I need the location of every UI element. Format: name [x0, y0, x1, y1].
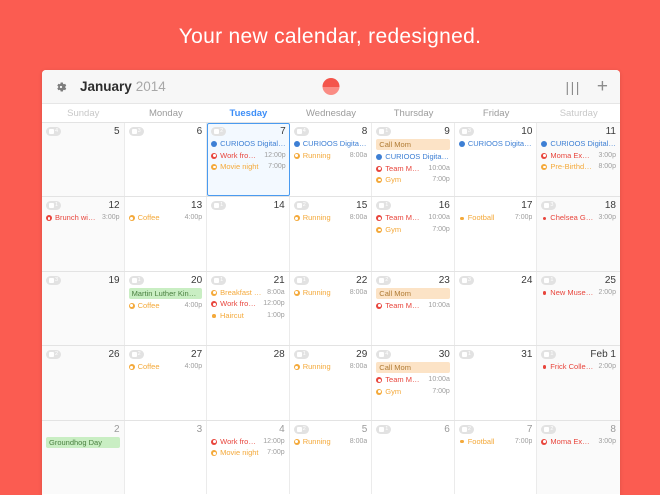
year-label: 2014 — [136, 79, 166, 94]
day-number: 12 — [108, 200, 119, 211]
calendar-event[interactable]: Work from ho...12:00p — [211, 299, 285, 309]
badge-count: 3 — [468, 127, 471, 136]
mini-calendar-icon — [379, 352, 384, 357]
mini-calendar-icon — [214, 129, 219, 134]
event-color-dot-icon — [541, 141, 547, 147]
event-title: CURIOOS Digital Art... — [220, 139, 286, 149]
calendar-event[interactable]: Chelsea Gallery3:00p — [541, 213, 616, 223]
badge-count: 2 — [550, 425, 553, 434]
day-cell[interactable]: 3 — [125, 421, 208, 494]
event-time: 7:00p — [268, 162, 286, 172]
event-title: CURIOOS Digital Art... — [468, 139, 533, 149]
event-time: 7:00p — [432, 225, 450, 235]
calendar-app-window: January 2014 ||| + SundayMondayTuesdayWe… — [42, 70, 620, 495]
day-cell[interactable]: 16 — [372, 421, 455, 494]
day-header: 13 — [129, 200, 203, 211]
event-color-dot-icon — [460, 440, 464, 444]
day-event-count-badge: 2 — [376, 276, 391, 285]
day-cell[interactable]: 17Football7:00p — [455, 197, 538, 270]
calendar-event[interactable]: Breakfast with...8:00a — [211, 288, 285, 298]
day-event-count-badge: 1 — [376, 127, 391, 136]
day-cell[interactable]: 227Coffee4:00p — [125, 346, 208, 419]
mini-calendar-icon — [544, 278, 549, 283]
event-time: 1:00p — [267, 311, 285, 321]
day-header: 226 — [46, 349, 120, 360]
event-title: Team Meeting — [385, 375, 423, 385]
event-title: Gym — [385, 225, 427, 235]
day-number: 5 — [362, 424, 368, 435]
app-toolbar: January 2014 ||| + — [42, 70, 620, 104]
event-time: 10:00a — [428, 375, 449, 385]
day-number: 13 — [191, 200, 202, 211]
event-color-dot-icon — [294, 153, 300, 159]
day-cell[interactable]: 116Team Meeting10:00aGym7:00p — [372, 197, 455, 270]
calendar-event[interactable]: CURIOOS Digital Art... — [211, 139, 286, 149]
event-color-dot-icon — [294, 141, 300, 147]
day-event-count-badge: 3 — [541, 201, 556, 210]
event-title: Pre-Birthday Di... — [550, 162, 593, 172]
badge-count: 4 — [385, 350, 388, 359]
calendar-event[interactable]: Coffee4:00p — [129, 301, 203, 311]
weekday-label-tuesday: Tuesday — [207, 104, 290, 123]
badge-count: 4 — [55, 127, 58, 136]
event-time: 12:00p — [263, 299, 284, 309]
event-title: Breakfast with... — [220, 288, 262, 298]
day-event-count-badge: 2 — [459, 425, 474, 434]
calendar-event[interactable]: Gym7:00p — [376, 387, 450, 397]
event-color-dot-icon — [376, 377, 382, 383]
day-header: 4 — [211, 424, 285, 435]
day-number: 7 — [280, 126, 286, 137]
day-event-count-badge: 2 — [211, 127, 226, 136]
weekday-label-saturday: Saturday — [537, 104, 620, 123]
calendar-week-row: 453627CURIOOS Digital Art...Work from ho… — [42, 123, 620, 197]
day-event-count-badge: 1 — [294, 350, 309, 359]
day-cell[interactable]: 215Running8:00a — [290, 197, 373, 270]
day-header: 120 — [129, 275, 203, 286]
day-header: 19 — [376, 126, 450, 137]
day-cell[interactable]: 114 — [207, 197, 290, 270]
calendar-week-row: 2Groundhog Day34Work from ho...12:00pMov… — [42, 421, 620, 494]
event-color-dot-icon — [211, 290, 217, 296]
day-header: 17 — [459, 200, 533, 211]
day-cell[interactable]: 45 — [42, 123, 125, 196]
event-title: Haircut — [220, 311, 262, 321]
event-title: Call Mom — [379, 362, 447, 373]
day-cell[interactable]: 11CURIOOS Digital Art...Moma Exhibition3… — [537, 123, 620, 196]
event-color-dot-icon — [294, 439, 300, 445]
event-color-dot-icon — [459, 141, 465, 147]
day-header: 319 — [46, 275, 120, 286]
day-number: 20 — [191, 275, 202, 286]
event-time: 2:00p — [598, 362, 616, 372]
event-title: Movie night — [220, 448, 262, 458]
day-cell[interactable]: 48CURIOOS Digital Art...Running8:00a — [290, 123, 373, 196]
day-header: 3 — [129, 424, 203, 435]
calendar-week-row: 319120Martin Luther King, Jr's...Coffee4… — [42, 272, 620, 346]
day-event-count-badge: 2 — [294, 201, 309, 210]
event-color-dot-icon — [294, 290, 300, 296]
badge-count: 1 — [303, 350, 306, 359]
day-event-count-badge: 1 — [459, 350, 474, 359]
day-number: 3 — [197, 424, 203, 435]
event-color-dot-icon — [129, 215, 135, 221]
mini-calendar-icon — [297, 203, 302, 208]
day-header: 11 — [541, 126, 616, 137]
day-header: 121 — [211, 275, 285, 286]
event-color-dot-icon — [211, 153, 217, 159]
event-title: Work from ho... — [220, 437, 258, 447]
app-logo-icon — [323, 78, 340, 95]
day-header: 27 — [459, 424, 533, 435]
event-time: 3:00p — [102, 213, 120, 223]
event-title: Moma Exhibition — [550, 151, 593, 161]
badge-count: 1 — [385, 127, 388, 136]
day-number: 19 — [108, 275, 119, 286]
day-event-count-badge: 4 — [46, 127, 61, 136]
calendar-event[interactable]: Brunch with Jer...3:00p — [46, 213, 120, 223]
calendar-event[interactable]: Team Meeting10:00a — [376, 375, 450, 385]
weekday-label-friday: Friday — [455, 104, 538, 123]
calendar-event[interactable]: Frick Collection2:00p — [541, 362, 616, 372]
event-color-dot-icon — [294, 215, 300, 221]
badge-count: 3 — [138, 127, 141, 136]
event-color-dot-icon — [376, 154, 382, 160]
event-color-dot-icon — [211, 141, 217, 147]
day-event-count-badge: 3 — [459, 276, 474, 285]
calendar-event[interactable]: Team Meeting10:00a — [376, 213, 450, 223]
day-cell[interactable]: 27CURIOOS Digital Art...Work from ho...1… — [207, 123, 290, 196]
event-time: 4:00p — [185, 213, 203, 223]
event-time: 10:00a — [428, 164, 449, 174]
day-number: 6 — [197, 126, 203, 137]
event-color-dot-icon — [211, 450, 217, 456]
mini-calendar-icon — [544, 352, 549, 357]
calendar-event[interactable]: Gym7:00p — [376, 225, 450, 235]
day-header: 48 — [294, 126, 368, 137]
day-cell[interactable]: 226 — [42, 346, 125, 419]
day-event-count-badge: 2 — [129, 350, 144, 359]
day-cell[interactable]: 122Running8:00a — [290, 272, 373, 345]
mini-calendar-icon — [462, 129, 467, 134]
calendar-event[interactable]: Work from ho...12:00p — [211, 151, 286, 161]
calendar-event[interactable]: Movie night7:00p — [211, 448, 285, 458]
calendar-event[interactable]: New Museum2:00p — [541, 288, 616, 298]
badge-count: 2 — [303, 201, 306, 210]
event-color-dot-icon — [541, 153, 547, 159]
mini-calendar-icon — [379, 203, 384, 208]
event-time: 8:00a — [350, 362, 368, 372]
settings-gear-icon[interactable] — [54, 80, 68, 94]
event-time: 3:00p — [598, 437, 616, 447]
day-header: 36 — [129, 126, 203, 137]
day-number: 6 — [444, 424, 450, 435]
event-title: Team Meeting — [385, 301, 423, 311]
day-header: 318 — [541, 200, 616, 211]
day-number: 9 — [444, 126, 450, 137]
event-title: Coffee — [138, 213, 180, 223]
badge-count: 1 — [220, 201, 223, 210]
calendar-event[interactable]: Running8:00a — [294, 362, 368, 372]
day-number: 5 — [114, 126, 120, 137]
event-color-dot-icon — [543, 365, 547, 369]
event-color-dot-icon — [543, 217, 547, 221]
day-number: 29 — [356, 349, 367, 360]
mini-calendar-icon — [214, 203, 219, 208]
day-header: 116 — [376, 200, 450, 211]
day-header: 27 — [211, 126, 286, 137]
mini-calendar-icon — [379, 129, 384, 134]
day-header: 227 — [129, 349, 203, 360]
calendar-event[interactable]: Running8:00a — [294, 151, 368, 161]
badge-count: 1 — [138, 276, 141, 285]
event-color-dot-icon — [376, 177, 382, 183]
day-cell[interactable]: 131 — [455, 346, 538, 419]
day-event-count-badge: 2 — [46, 350, 61, 359]
day-number: 4 — [279, 424, 285, 435]
event-color-dot-icon — [541, 439, 547, 445]
badge-count: 1 — [385, 425, 388, 434]
event-title: Frick Collection — [550, 362, 593, 372]
day-cell[interactable]: 324 — [455, 272, 538, 345]
day-number: 17 — [521, 200, 532, 211]
day-number: Feb 1 — [590, 349, 616, 360]
badge-count: 2 — [220, 127, 223, 136]
mini-calendar-icon — [544, 203, 549, 208]
event-title: Running — [303, 213, 345, 223]
event-title: Work from ho... — [220, 299, 258, 309]
mini-calendar-icon — [49, 203, 54, 208]
day-number: 2 — [114, 424, 120, 435]
event-color-dot-icon — [129, 364, 135, 370]
day-number: 8 — [362, 126, 368, 137]
day-number: 25 — [605, 275, 616, 286]
day-cell[interactable]: 120Martin Luther King, Jr's...Coffee4:00… — [125, 272, 208, 345]
day-header: 310 — [459, 126, 533, 137]
day-event-count-badge: 1 — [211, 201, 226, 210]
day-event-count-badge: 1 — [129, 276, 144, 285]
day-cell[interactable]: 13Coffee4:00p — [125, 197, 208, 270]
event-color-dot-icon — [212, 314, 216, 318]
day-header: 16 — [376, 424, 450, 435]
event-color-dot-icon — [211, 164, 217, 170]
mini-calendar-icon — [379, 427, 384, 432]
event-title: Brunch with Jer... — [55, 213, 97, 223]
event-time: 4:00p — [185, 362, 203, 372]
day-number: 10 — [521, 126, 532, 137]
calendar-event[interactable]: Movie night7:00p — [211, 162, 286, 172]
event-title: Work from ho... — [220, 151, 259, 161]
event-time: 4:00p — [185, 301, 203, 311]
event-time: 8:00a — [350, 151, 368, 161]
mini-calendar-icon — [297, 352, 302, 357]
calendar-event[interactable]: Football7:00p — [459, 437, 533, 447]
day-cell[interactable]: 112Brunch with Jer...3:00p — [42, 197, 125, 270]
mini-calendar-icon — [132, 352, 137, 357]
calendar-week-row: 226227Coffee4:00p28129Running8:00a430Cal… — [42, 346, 620, 420]
calendar-event[interactable]: Team Meeting10:00a — [376, 301, 450, 311]
mini-calendar-icon — [49, 278, 54, 283]
mini-calendar-icon — [297, 427, 302, 432]
calendar-event[interactable]: Team Meeting10:00a — [376, 164, 450, 174]
event-title: Running — [303, 151, 345, 161]
day-header: 114 — [211, 200, 285, 211]
event-color-dot-icon — [294, 364, 300, 370]
day-number: 30 — [439, 349, 450, 360]
day-cell[interactable]: 125New Museum2:00p — [537, 272, 620, 345]
day-cell[interactable]: 25Running8:00a — [290, 421, 373, 494]
badge-count: 3 — [55, 276, 58, 285]
event-time: 7:00p — [267, 448, 285, 458]
calendar-event[interactable]: CURIOOS Digital Art... — [459, 139, 533, 149]
event-color-dot-icon — [541, 164, 547, 170]
badge-count: 1 — [550, 276, 553, 285]
badge-count: 4 — [303, 127, 306, 136]
month-label: January — [80, 79, 132, 94]
day-header: 25 — [294, 424, 368, 435]
day-header: 324 — [459, 275, 533, 286]
add-event-icon[interactable]: + — [597, 77, 608, 96]
event-time: 10:00a — [428, 213, 449, 223]
day-cell[interactable]: 2Groundhog Day — [42, 421, 125, 494]
mini-calendar-icon — [214, 278, 219, 283]
weekday-label-monday: Monday — [125, 104, 208, 123]
event-title: CURIOOS Digital Art... — [303, 139, 368, 149]
calendar-event[interactable]: CURIOOS Digital Art... — [376, 152, 450, 162]
mini-calendar-icon — [379, 278, 384, 283]
badge-count: 3 — [468, 276, 471, 285]
day-cell[interactable]: 318Chelsea Gallery3:00p — [537, 197, 620, 270]
event-color-dot-icon — [129, 303, 135, 309]
calendar-event[interactable]: Gym7:00p — [376, 175, 450, 185]
day-number: 8 — [610, 424, 616, 435]
day-number: 18 — [605, 200, 616, 211]
event-color-dot-icon — [460, 217, 464, 221]
event-title: Running — [303, 288, 345, 298]
day-number: 23 — [439, 275, 450, 286]
event-title: Coffee — [138, 301, 180, 311]
day-cell[interactable]: 129Running8:00a — [290, 346, 373, 419]
calendar-event[interactable]: Running8:00a — [294, 437, 368, 447]
badge-count: 1 — [303, 276, 306, 285]
calendar-event[interactable]: Coffee4:00p — [129, 213, 203, 223]
calendar-event[interactable]: CURIOOS Digital Art... — [541, 139, 616, 149]
calendar-event[interactable]: Work from ho...12:00p — [211, 437, 285, 447]
calendar-event[interactable]: Running8:00a — [294, 288, 368, 298]
event-title: Chelsea Gallery — [550, 213, 593, 223]
calendar-event[interactable]: Haircut1:00p — [211, 311, 285, 321]
day-event-count-badge: 1 — [376, 201, 391, 210]
day-cell[interactable]: 36 — [125, 123, 208, 196]
all-day-event[interactable]: Groundhog Day — [46, 437, 120, 448]
event-title: Movie night — [220, 162, 263, 172]
calendar-event[interactable]: Coffee4:00p — [129, 362, 203, 372]
day-number: 22 — [356, 275, 367, 286]
day-cell[interactable]: 121Breakfast with...8:00aWork from ho...… — [207, 272, 290, 345]
event-color-dot-icon — [211, 439, 217, 445]
day-number: 16 — [439, 200, 450, 211]
mini-calendar-icon — [297, 278, 302, 283]
all-day-event[interactable]: Martin Luther King, Jr's... — [129, 288, 203, 299]
event-title: Gym — [385, 175, 427, 185]
day-cell[interactable]: 27Football7:00p — [455, 421, 538, 494]
calendar-event[interactable]: Running8:00a — [294, 213, 368, 223]
all-day-event[interactable]: Call Mom — [376, 362, 450, 373]
day-header: 122 — [294, 275, 368, 286]
day-event-count-badge: 4 — [294, 127, 309, 136]
mini-calendar-icon — [544, 427, 549, 432]
event-title: Running — [303, 437, 345, 447]
all-day-event[interactable]: Call Mom — [376, 139, 450, 150]
event-title: CURIOOS Digital Art... — [385, 152, 450, 162]
month-year-title: January 2014 — [80, 79, 166, 94]
day-event-count-badge: 1 — [541, 276, 556, 285]
day-header: 1Feb 1 — [541, 349, 616, 360]
calendar-event[interactable]: CURIOOS Digital Art... — [294, 139, 368, 149]
event-color-dot-icon — [211, 301, 217, 307]
event-color-dot-icon — [376, 227, 382, 233]
day-event-count-badge: 1 — [294, 276, 309, 285]
day-event-count-badge: 1 — [541, 350, 556, 359]
badge-count: 2 — [55, 350, 58, 359]
badge-count: 1 — [385, 201, 388, 210]
weekday-label-sunday: Sunday — [42, 104, 125, 123]
badge-count: 1 — [550, 350, 553, 359]
day-event-count-badge: 3 — [46, 276, 61, 285]
event-title: Football — [468, 437, 510, 447]
day-event-count-badge: 1 — [376, 425, 391, 434]
day-header: 125 — [541, 275, 616, 286]
badge-count: 2 — [468, 425, 471, 434]
calendar-event[interactable]: Moma Exhibition3:00p — [541, 151, 616, 161]
day-cell[interactable]: 223Call MomTeam Meeting10:00a — [372, 272, 455, 345]
day-cell[interactable]: 4Work from ho...12:00pMovie night7:00p — [207, 421, 290, 494]
badge-count: 2 — [138, 350, 141, 359]
day-header: 129 — [294, 349, 368, 360]
day-event-count-badge: 2 — [541, 425, 556, 434]
day-cell[interactable]: 1Feb 1Frick Collection2:00p — [537, 346, 620, 419]
day-cell[interactable]: 319 — [42, 272, 125, 345]
event-color-dot-icon — [376, 215, 382, 221]
day-cell[interactable]: 19Call MomCURIOOS Digital Art...Team Mee… — [372, 123, 455, 196]
event-time: 7:00p — [515, 213, 533, 223]
event-time: 3:00p — [598, 213, 616, 223]
event-time: 8:00a — [267, 288, 285, 298]
day-cell[interactable]: 28 — [207, 346, 290, 419]
day-cell[interactable]: 310CURIOOS Digital Art... — [455, 123, 538, 196]
day-number: 24 — [521, 275, 532, 286]
weekday-label-thursday: Thursday — [372, 104, 455, 123]
day-header: 112 — [46, 200, 120, 211]
event-title: Running — [303, 362, 345, 372]
all-day-event[interactable]: Call Mom — [376, 288, 450, 299]
mini-calendar-icon — [462, 352, 467, 357]
calendar-event[interactable]: Moma Exhibition3:00p — [541, 437, 616, 447]
list-view-icon[interactable]: ||| — [565, 80, 580, 94]
mini-calendar-icon — [49, 129, 54, 134]
badge-count: 1 — [468, 350, 471, 359]
event-time: 12:00p — [263, 437, 284, 447]
day-cell[interactable]: 28Moma Exhibition3:00p — [537, 421, 620, 494]
day-cell[interactable]: 430Call MomTeam Meeting10:00aGym7:00p — [372, 346, 455, 419]
day-header: 430 — [376, 349, 450, 360]
event-time: 8:00a — [350, 288, 368, 298]
calendar-event[interactable]: Pre-Birthday Di...8:00p — [541, 162, 616, 172]
event-title: Coffee — [138, 362, 180, 372]
day-event-count-badge: 1 — [46, 201, 61, 210]
calendar-event[interactable]: Football7:00p — [459, 213, 533, 223]
day-number: 7 — [527, 424, 533, 435]
